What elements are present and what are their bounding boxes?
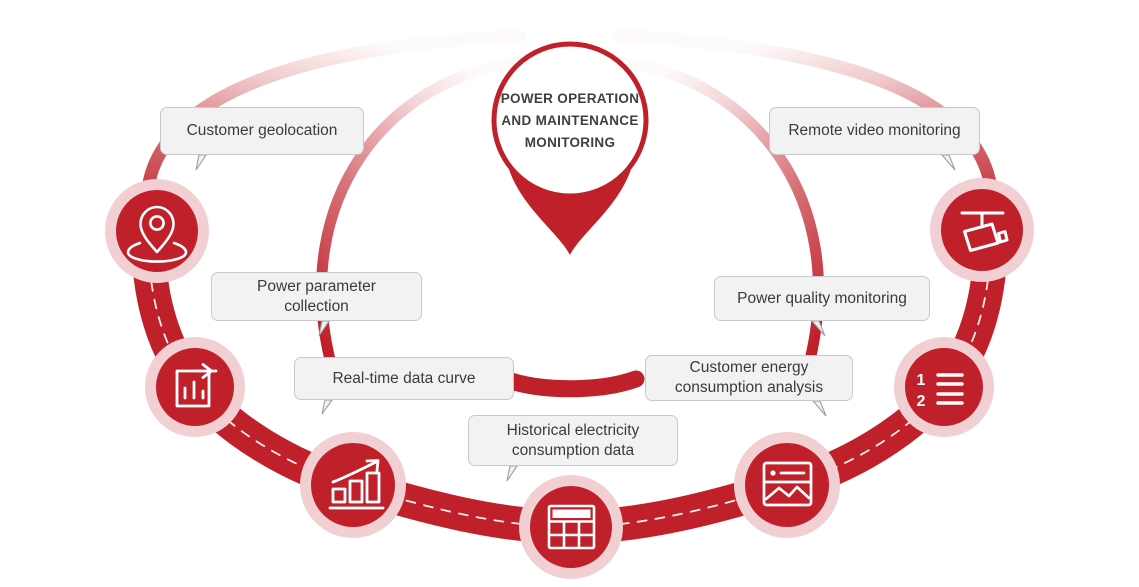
tail-customer-energy-analysis [813, 401, 826, 416]
ribbon-mid-connector [505, 379, 636, 389]
tail-remote-video-monitoring [942, 155, 955, 170]
label-real-time-data-curve[interactable]: Real-time data curve [294, 357, 514, 400]
tail-historical-electricity [507, 466, 517, 481]
tail-real-time-data-curve [322, 400, 332, 414]
label-line-2: collection [284, 297, 349, 317]
hub-map-pin[interactable] [494, 44, 646, 255]
label-line-1: Power parameter [257, 277, 376, 297]
node-customer-geolocation[interactable] [116, 190, 198, 272]
node-customer-energy-consumption[interactable] [745, 443, 829, 527]
label-historical-electricity[interactable]: Historical electricity consumption data [468, 415, 678, 466]
node-real-time-data-curve[interactable] [311, 443, 395, 527]
label-customer-energy-analysis[interactable]: Customer energy consumption analysis [645, 355, 853, 401]
hub-pin-inner-circle [494, 44, 646, 196]
infographic-canvas: 1 2 POWER OPERATION AND MAINTENA [0, 0, 1139, 587]
label-line-2: consumption data [512, 441, 634, 461]
diagram-graphic: 1 2 [0, 0, 1139, 587]
label-power-quality-monitoring[interactable]: Power quality monitoring [714, 276, 930, 321]
label-line-1: Customer energy [690, 358, 809, 378]
label-remote-video-monitoring[interactable]: Remote video monitoring [769, 107, 980, 155]
label-line-2: consumption analysis [675, 378, 823, 398]
label-customer-geolocation[interactable]: Customer geolocation [160, 107, 364, 155]
label-line-1: Historical electricity [507, 421, 640, 441]
label-power-parameter-collection[interactable]: Power parameter collection [211, 272, 422, 321]
svg-text:1: 1 [917, 372, 926, 389]
tail-customer-geolocation [196, 155, 206, 170]
node-remote-video-monitoring[interactable] [941, 189, 1023, 271]
node-historical-electricity-data[interactable] [530, 486, 612, 568]
svg-text:2: 2 [917, 393, 926, 410]
